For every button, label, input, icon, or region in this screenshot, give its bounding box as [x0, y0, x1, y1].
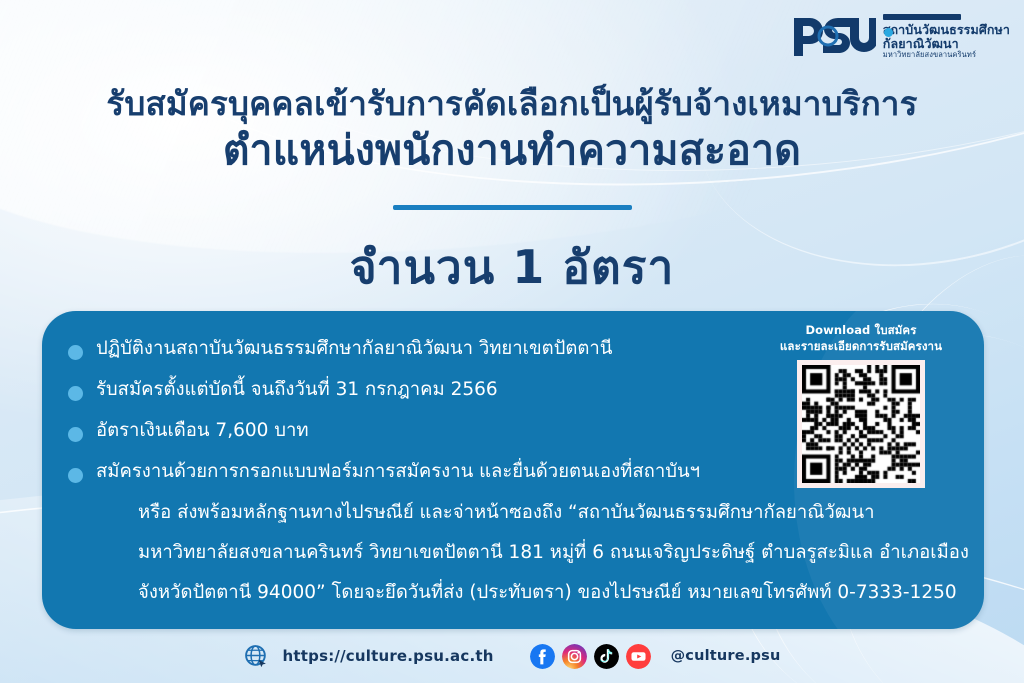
globe-icon	[244, 644, 269, 669]
announcement-heading: รับสมัครบุคคลเข้ารับการคัดเลือกเป็นผู้รั…	[0, 84, 1024, 124]
psu-logo: สถาบันวัฒนธรรมศึกษา กัลยาณิวัฒนา มหาวิทย…	[792, 8, 1010, 66]
logo-institute-line1: สถาบันวัฒนธรรมศึกษา	[883, 23, 1010, 37]
bullet-text: ปฏิบัติงานสถาบันวัฒนธรรมศึกษากัลยาณิวัฒน…	[96, 337, 612, 362]
website-url[interactable]: https://culture.psu.ac.th	[283, 647, 494, 665]
bullet-text: รับสมัครตั้งแต่บัดนี้ จนถึงวันที่ 31 กรก…	[96, 378, 498, 403]
qr-code-frame[interactable]	[797, 360, 925, 488]
social-handle[interactable]: @culture.psu	[671, 648, 781, 664]
address-continuation-block: หรือ ส่งพร้อมหลักฐานทางไปรษณีย์ และจ่าหน…	[138, 501, 984, 621]
headings-block: รับสมัครบุคคลเข้ารับการคัดเลือกเป็นผู้รั…	[0, 84, 1024, 175]
bullet-dot-icon	[68, 427, 83, 442]
qr-caption-line2: และรายละเอียดการรับสมัครงาน	[774, 339, 948, 355]
social-icons-group	[530, 644, 651, 669]
bullet-dot-icon	[68, 345, 83, 360]
instagram-icon[interactable]	[562, 644, 587, 669]
poster-canvas: สถาบันวัฒนธรรมศึกษา กัลยาณิวัฒนา มหาวิทย…	[0, 0, 1024, 683]
psu-monogram-icon	[792, 12, 876, 58]
logo-accent-dot-icon	[884, 28, 893, 37]
logo-bar	[883, 14, 961, 20]
qr-code-icon[interactable]	[802, 365, 920, 483]
details-panel: ปฏิบัติงานสถาบันวัฒนธรรมศึกษากัลยาณิวัฒน…	[42, 311, 984, 629]
youtube-icon[interactable]	[626, 644, 651, 669]
bullet-dot-icon	[68, 386, 83, 401]
logo-institute-line2: กัลยาณิวัฒนา	[883, 37, 1010, 51]
heading-divider	[393, 205, 632, 210]
facebook-icon[interactable]	[530, 644, 555, 669]
address-line: จังหวัดปัตตานี 94000” โดยจะยึดวันที่ส่ง …	[138, 581, 984, 606]
logo-university-line: มหาวิทยาลัยสงขลานครินทร์	[883, 51, 1010, 59]
tiktok-icon[interactable]	[594, 644, 619, 669]
bullet-text: สมัครงานด้วยการกรอกแบบฟอร์มการสมัครงาน แ…	[96, 460, 700, 485]
address-line: มหาวิทยาลัยสงขลานครินทร์ วิทยาเขตปัตตานี…	[138, 541, 984, 566]
qr-download-block: Download ใบสมัคร และรายละเอียดการรับสมัค…	[774, 323, 948, 488]
bullet-text: อัตราเงินเดือน 7,600 บาท	[96, 419, 309, 444]
position-heading: ตำแหน่งพนักงานทำความสะอาด	[0, 126, 1024, 175]
footer-bar: https://culture.psu.ac.th	[0, 629, 1024, 683]
bullet-dot-icon	[68, 468, 83, 483]
vacancy-count: จำนวน 1 อัตรา	[0, 231, 1024, 304]
qr-caption-line1: Download ใบสมัคร	[774, 323, 948, 339]
address-line: หรือ ส่งพร้อมหลักฐานทางไปรษณีย์ และจ่าหน…	[138, 501, 984, 526]
